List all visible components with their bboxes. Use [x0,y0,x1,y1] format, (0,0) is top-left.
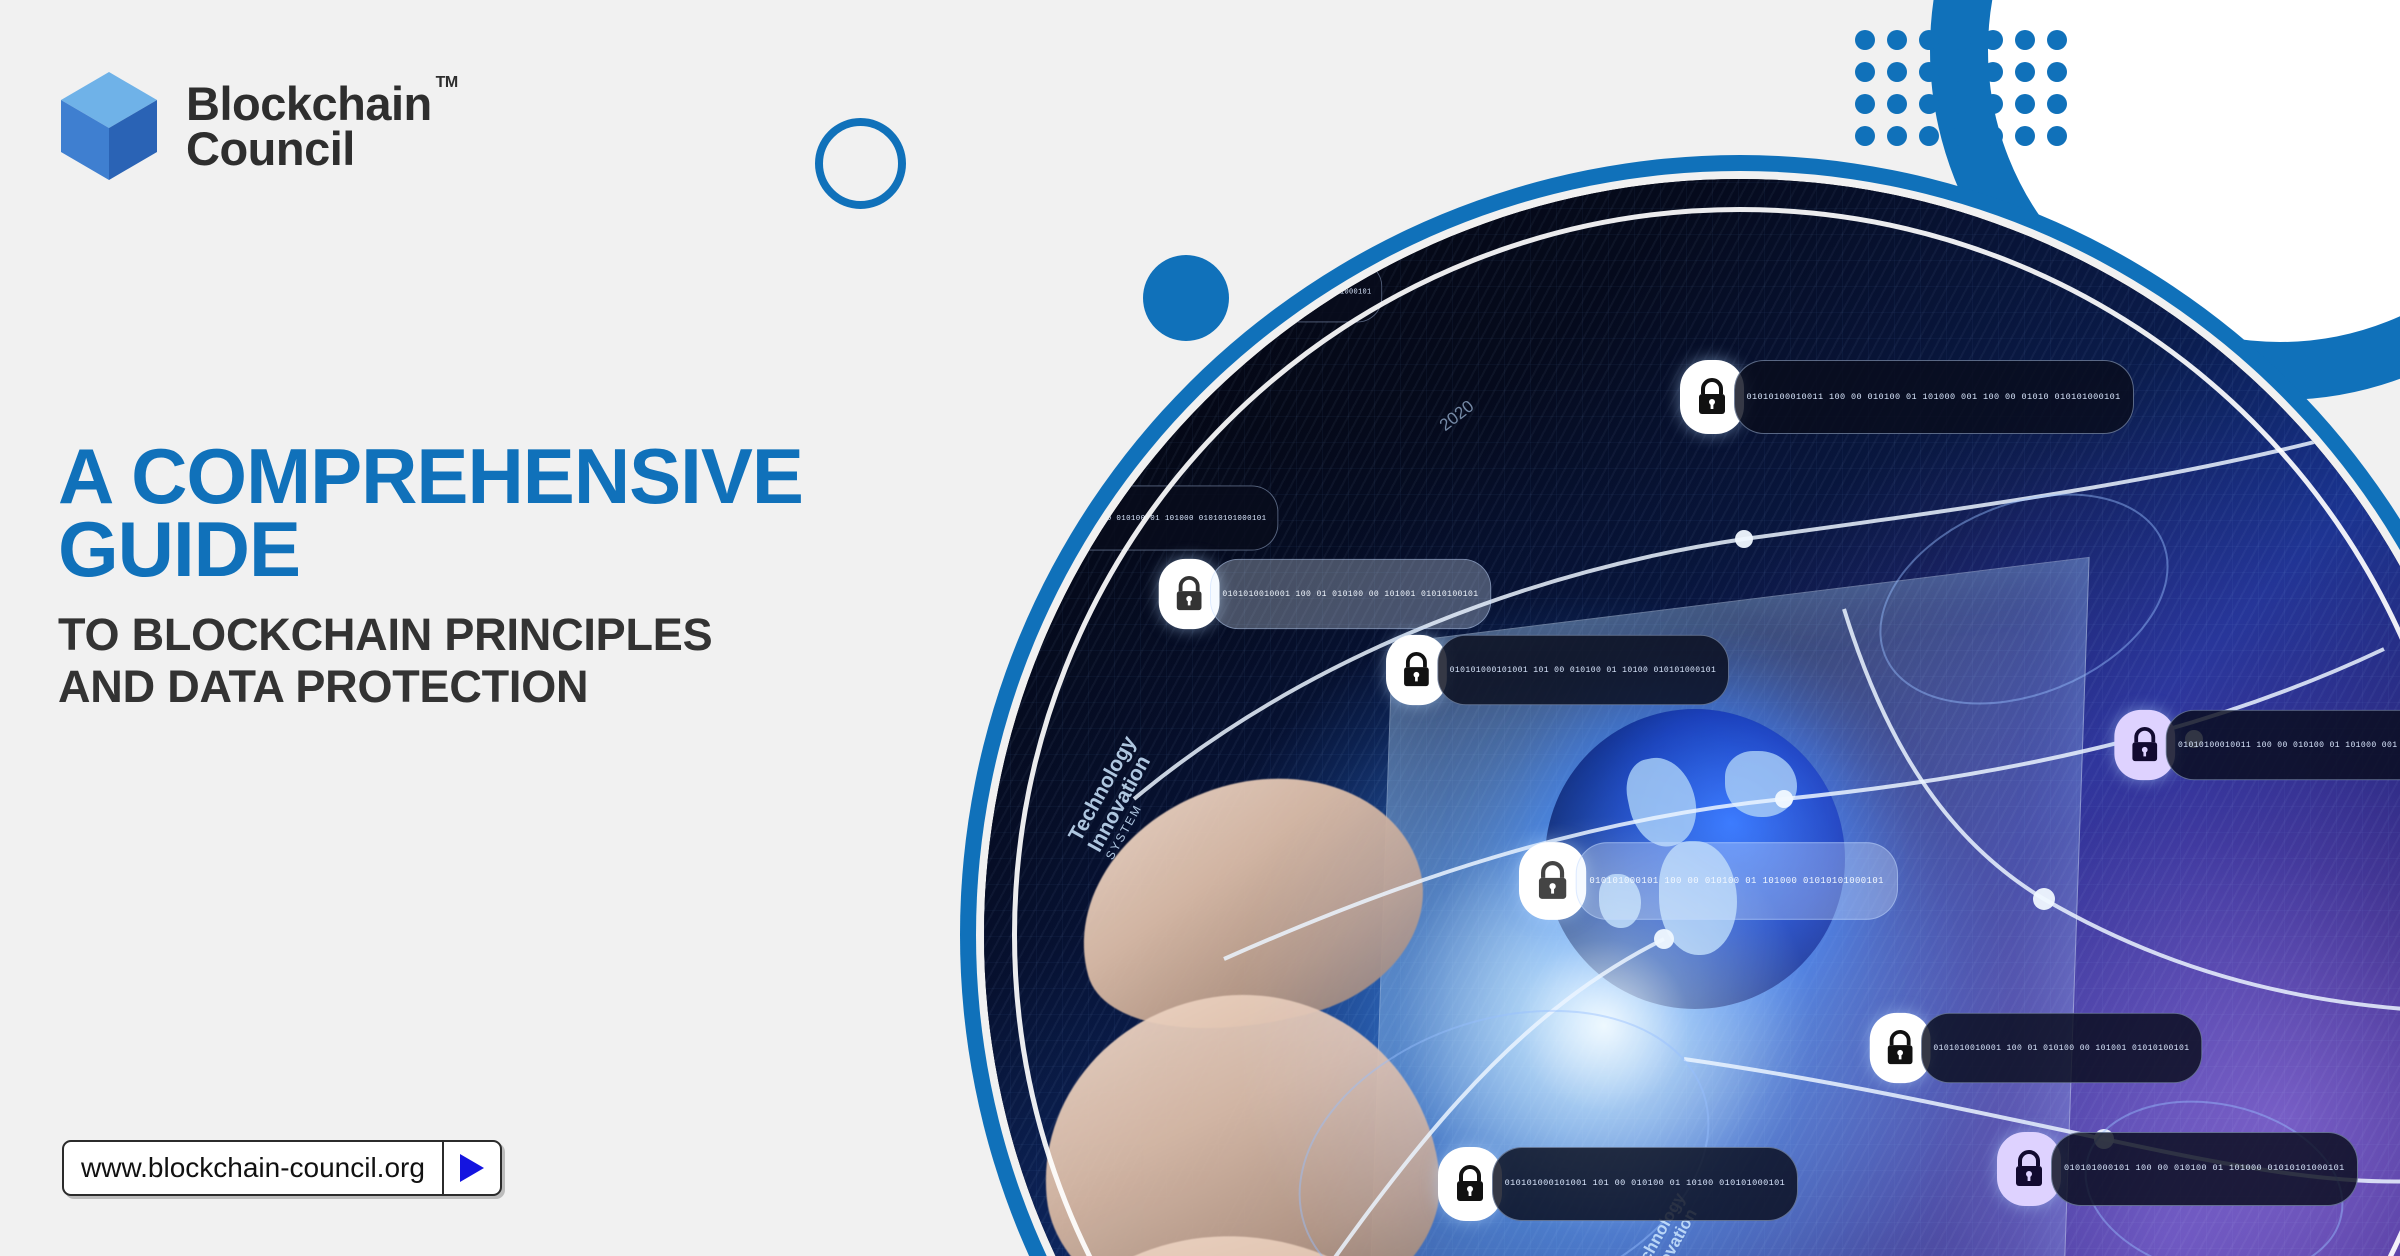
binary-tag: 01010100010011 100 00 010100 01 101000 0… [2166,710,2400,780]
grid-dot [1855,30,1875,50]
binary-tag-text: 010101000101 100 00 010100 01 101000 010… [2064,1163,2345,1174]
grid-dot [2047,30,2067,50]
padlock-badge: 010101000101 100 00 010100 01 101000 010… [984,486,1278,551]
binary-tag: 010101000101001 101 00 010100 01 10100 0… [1492,1147,1799,1221]
grid-dot [1983,94,2003,114]
binary-tag: 010101000101 100 00 010100 01 101000 010… [1008,486,1278,551]
padlock-badge: 01010100010011 100 00 010100 01 101000 0… [1680,360,2134,434]
grid-dot [1855,62,1875,82]
grid-dot [2047,126,2067,146]
binary-tag: 0101010010001 100 01 010100 00 101001 01… [1921,1012,2202,1082]
grid-dot [2015,94,2035,114]
grid-dot [1919,62,1939,82]
grid-dot [1951,30,1971,50]
banner-canvas: Blockchain Council TM A COMPREHENSIVE GU… [0,0,2400,1256]
binary-tag-text: 010101000101 100 00 010100 01 101000 010… [1590,875,1885,887]
circle-outline-icon [815,118,906,209]
headline-block: A COMPREHENSIVE GUIDE TO BLOCKCHAIN PRIN… [58,440,1118,713]
binary-tag-text: 0101010010001 100 01 010100 00 101001 01… [1933,1042,2189,1052]
padlock-badge: 01010100010011 100 00 010100 01 101000 0… [2114,710,2400,780]
grid-dot [1983,126,2003,146]
grid-dot [1951,126,1971,146]
subheading-line-1: TO BLOCKCHAIN PRINCIPLES [58,609,1118,661]
grid-dot [2015,30,2035,50]
play-triangle-icon[interactable] [444,1142,500,1194]
padlock-badge: 0101010010001 100 01 010100 00 101001 01… [1870,1012,2202,1082]
headline-line-1: A COMPREHENSIVE [58,440,1118,513]
trademark-symbol: TM [436,75,458,90]
grid-dot [1887,30,1907,50]
grid-dot [1951,94,1971,114]
binary-tag-text: 010101000101 100 00 010100 01 101000 010… [1019,514,1266,524]
grid-dot [1951,62,1971,82]
binary-tag-text: 01010100010011 100 00 010100 01 101000 0… [1065,287,1372,296]
grid-dot [1983,62,2003,82]
website-url-bar[interactable]: www.blockchain-council.org [62,1140,502,1196]
hero-circular-image: Technology Innovation SYSTEM Technology … [960,155,2400,1256]
logo-line-2: Council [186,126,432,171]
binary-tag: 01010100010011 100 00 010100 01 101000 0… [1054,261,1382,322]
binary-tag-text: 01010100010011 100 00 010100 01 101000 0… [2178,740,2400,750]
website-url-text: www.blockchain-council.org [64,1142,442,1194]
padlock-badge: 010101000101 100 00 010100 01 101000 010… [1997,1132,2358,1206]
grid-dot [2015,126,2035,146]
padlock-badge: 010101000101 100 00 010100 01 101000 010… [1519,842,1898,920]
grid-dot [1855,126,1875,146]
image-content: Technology Innovation SYSTEM Technology … [984,179,2400,1256]
binary-tag: 01010100010011 100 00 010100 01 101000 0… [1734,360,2134,434]
brand-logo[interactable]: Blockchain Council TM [58,70,432,182]
binary-tag-text: 01010100010011 100 00 010100 01 101000 0… [1747,392,2121,403]
headline-primary: A COMPREHENSIVE GUIDE [58,440,1118,585]
headline-line-2: GUIDE [58,513,1118,586]
binary-tag: 010101000101001 101 00 010100 01 10100 0… [1437,634,1728,704]
padlock-badge: 0101010010001 100 01 010100 00 101001 01… [1159,559,1491,629]
cube-icon [58,70,160,182]
grid-dot [2047,94,2067,114]
grid-dot [2047,62,2067,82]
binary-tag: 010101000101 100 00 010100 01 101000 010… [2051,1132,2358,1206]
logo-line-1: Blockchain [186,81,432,126]
grid-dot [1919,30,1939,50]
padlock-badge: 010101000101001 101 00 010100 01 10100 0… [1386,634,1729,704]
binary-tag: 010101000101 100 00 010100 01 101000 010… [1576,842,1898,920]
padlock-badge: 010101000101001 101 00 010100 01 10100 0… [1438,1147,1799,1221]
grid-dot [1855,94,1875,114]
grid-dot [1887,94,1907,114]
grid-dot [1919,94,1939,114]
logo-wordmark: Blockchain Council TM [186,81,432,171]
grid-dot [1919,126,1939,146]
dot-grid-decoration [1855,30,2079,158]
grid-dot [1887,126,1907,146]
binary-tag-text: 0101010010001 100 01 010100 00 101001 01… [1223,589,1479,599]
binary-tag: 0101010010001 100 01 010100 00 101001 01… [1210,559,1491,629]
padlock-badge: 01010100010011 100 00 010100 01 101000 0… [1010,261,1382,322]
binary-tag-text: 010101000101001 101 00 010100 01 10100 0… [1450,664,1717,674]
grid-dot [1887,62,1907,82]
headline-secondary: TO BLOCKCHAIN PRINCIPLES AND DATA PROTEC… [58,609,1118,713]
subheading-line-2: AND DATA PROTECTION [58,661,1118,713]
grid-dot [1983,30,2003,50]
grid-dot [2015,62,2035,82]
binary-tag-text: 010101000101001 101 00 010100 01 10100 0… [1505,1178,1786,1189]
